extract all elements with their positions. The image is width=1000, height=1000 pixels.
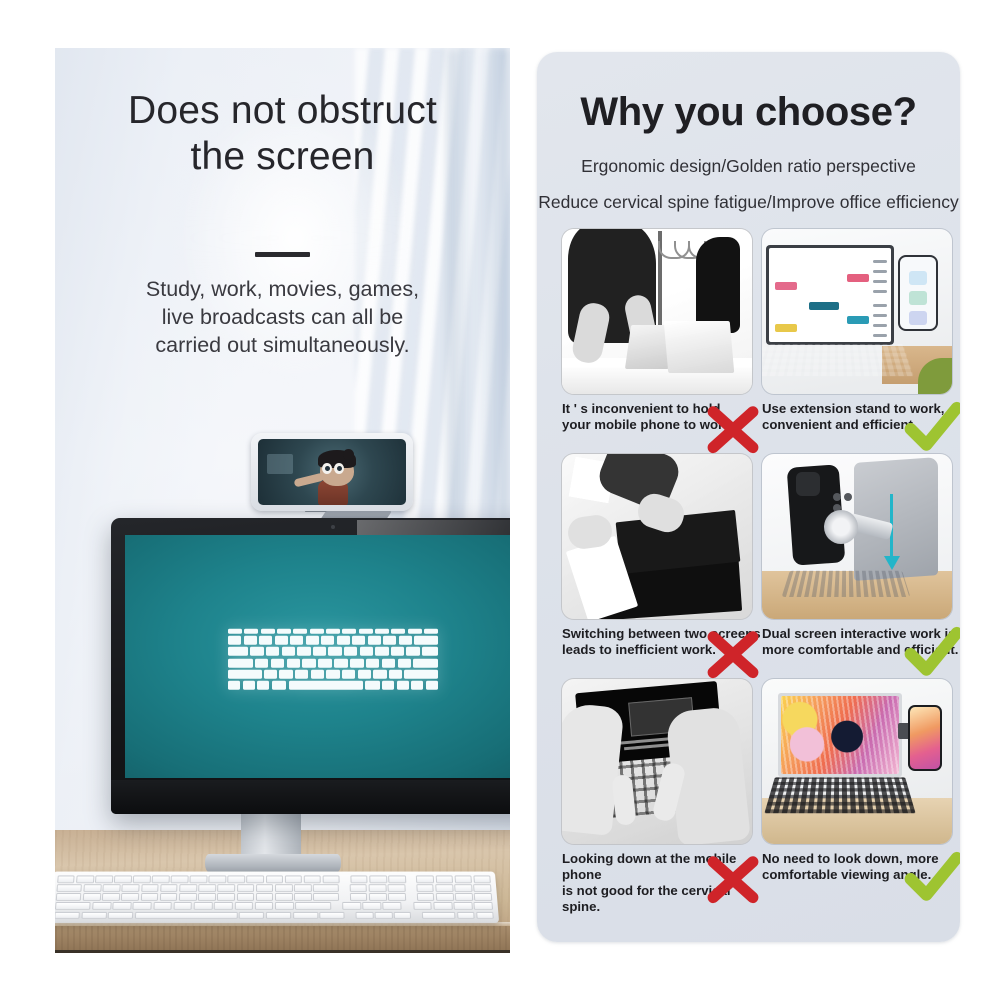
keyboard-row — [228, 628, 438, 634]
video-character-eye-left — [322, 463, 332, 474]
desktop-keyboard — [55, 872, 499, 923]
comparison-caption: Dual screen interactive work is more com… — [762, 626, 960, 658]
comparison-caption: No need to look down, more comfortable v… — [762, 851, 960, 883]
webcam-icon — [331, 525, 335, 529]
comparison-caption: Switching between two screens leads to i… — [562, 626, 767, 658]
comparison-caption: Use extension stand to work, convenient … — [762, 401, 960, 433]
desk-front-edge — [55, 926, 510, 953]
keyboard-row — [55, 911, 494, 919]
headline-divider — [255, 252, 310, 257]
headline-line-1: Does not obstruct — [55, 88, 510, 134]
keyboard-row — [228, 658, 438, 667]
comparison-grid: It ' s inconvenient to hold your mobile … — [562, 229, 960, 904]
panel-subtitle-2: Reduce cervical spine fatigue/Improve of… — [537, 192, 960, 213]
phone-video-screen — [258, 439, 406, 505]
sub-line-2: live broadcasts can all be — [55, 304, 510, 332]
right-comparison-panel: Why you choose? Ergonomic design/Golden … — [537, 52, 960, 942]
comparison-caption: It ' s inconvenient to hold your mobile … — [562, 401, 767, 433]
left-feature-panel: Does not obstruct the screen Study, work… — [55, 48, 510, 953]
left-subheadline: Study, work, movies, games, live broadca… — [55, 276, 510, 360]
video-character-eye-right — [334, 463, 344, 474]
sub-line-1: Study, work, movies, games, — [55, 276, 510, 304]
video-background-window — [267, 454, 293, 474]
panel-subtitle-1: Ergonomic design/Golden ratio perspectiv… — [537, 156, 960, 177]
comparison-cell: Switching between two screens leads to i… — [562, 454, 762, 679]
keyboard-row — [228, 636, 438, 645]
headline-line-2: the screen — [55, 134, 510, 180]
panel-title: Why you choose? — [537, 90, 960, 135]
video-character-hair-bun — [343, 449, 354, 460]
photo-hold-phone — [562, 229, 752, 394]
keyboard-row — [56, 893, 493, 900]
comparison-cell: It ' s inconvenient to hold your mobile … — [562, 229, 762, 454]
photo-extension-stand — [762, 229, 952, 394]
photo-dual-screen-stand — [762, 454, 952, 619]
monitor-chin — [111, 780, 510, 814]
left-headline: Does not obstruct the screen — [55, 88, 510, 180]
photo-no-look-down — [762, 679, 952, 844]
comparison-cell: Looking down at the mobile phone is not … — [562, 679, 762, 904]
keyboard-row — [55, 902, 493, 909]
desk-under-shadow — [55, 950, 510, 953]
comparison-cell: Dual screen interactive work is more com… — [762, 454, 960, 679]
comparison-cell: Use extension stand to work, convenient … — [762, 229, 960, 454]
keyboard-row — [228, 647, 438, 656]
product-infographic: Does not obstruct the screen Study, work… — [0, 0, 1000, 1000]
comparison-caption: Looking down at the mobile phone is not … — [562, 851, 767, 915]
phone-on-stand — [251, 433, 413, 511]
monitor-stand-base — [205, 854, 341, 872]
keyboard-row — [56, 884, 491, 891]
keyboard-row — [228, 669, 438, 678]
photo-switch-two-screens — [562, 454, 752, 619]
desktop-monitor — [111, 518, 510, 814]
keyboard-row — [57, 875, 491, 882]
monitor-screen — [125, 535, 510, 778]
onscreen-keyboard-graphic — [228, 628, 438, 689]
photo-looking-down — [562, 679, 752, 844]
keyboard-row — [228, 681, 438, 690]
comparison-cell: No need to look down, more comfortable v… — [762, 679, 960, 904]
sub-line-3: carried out simultaneously. — [55, 332, 510, 360]
